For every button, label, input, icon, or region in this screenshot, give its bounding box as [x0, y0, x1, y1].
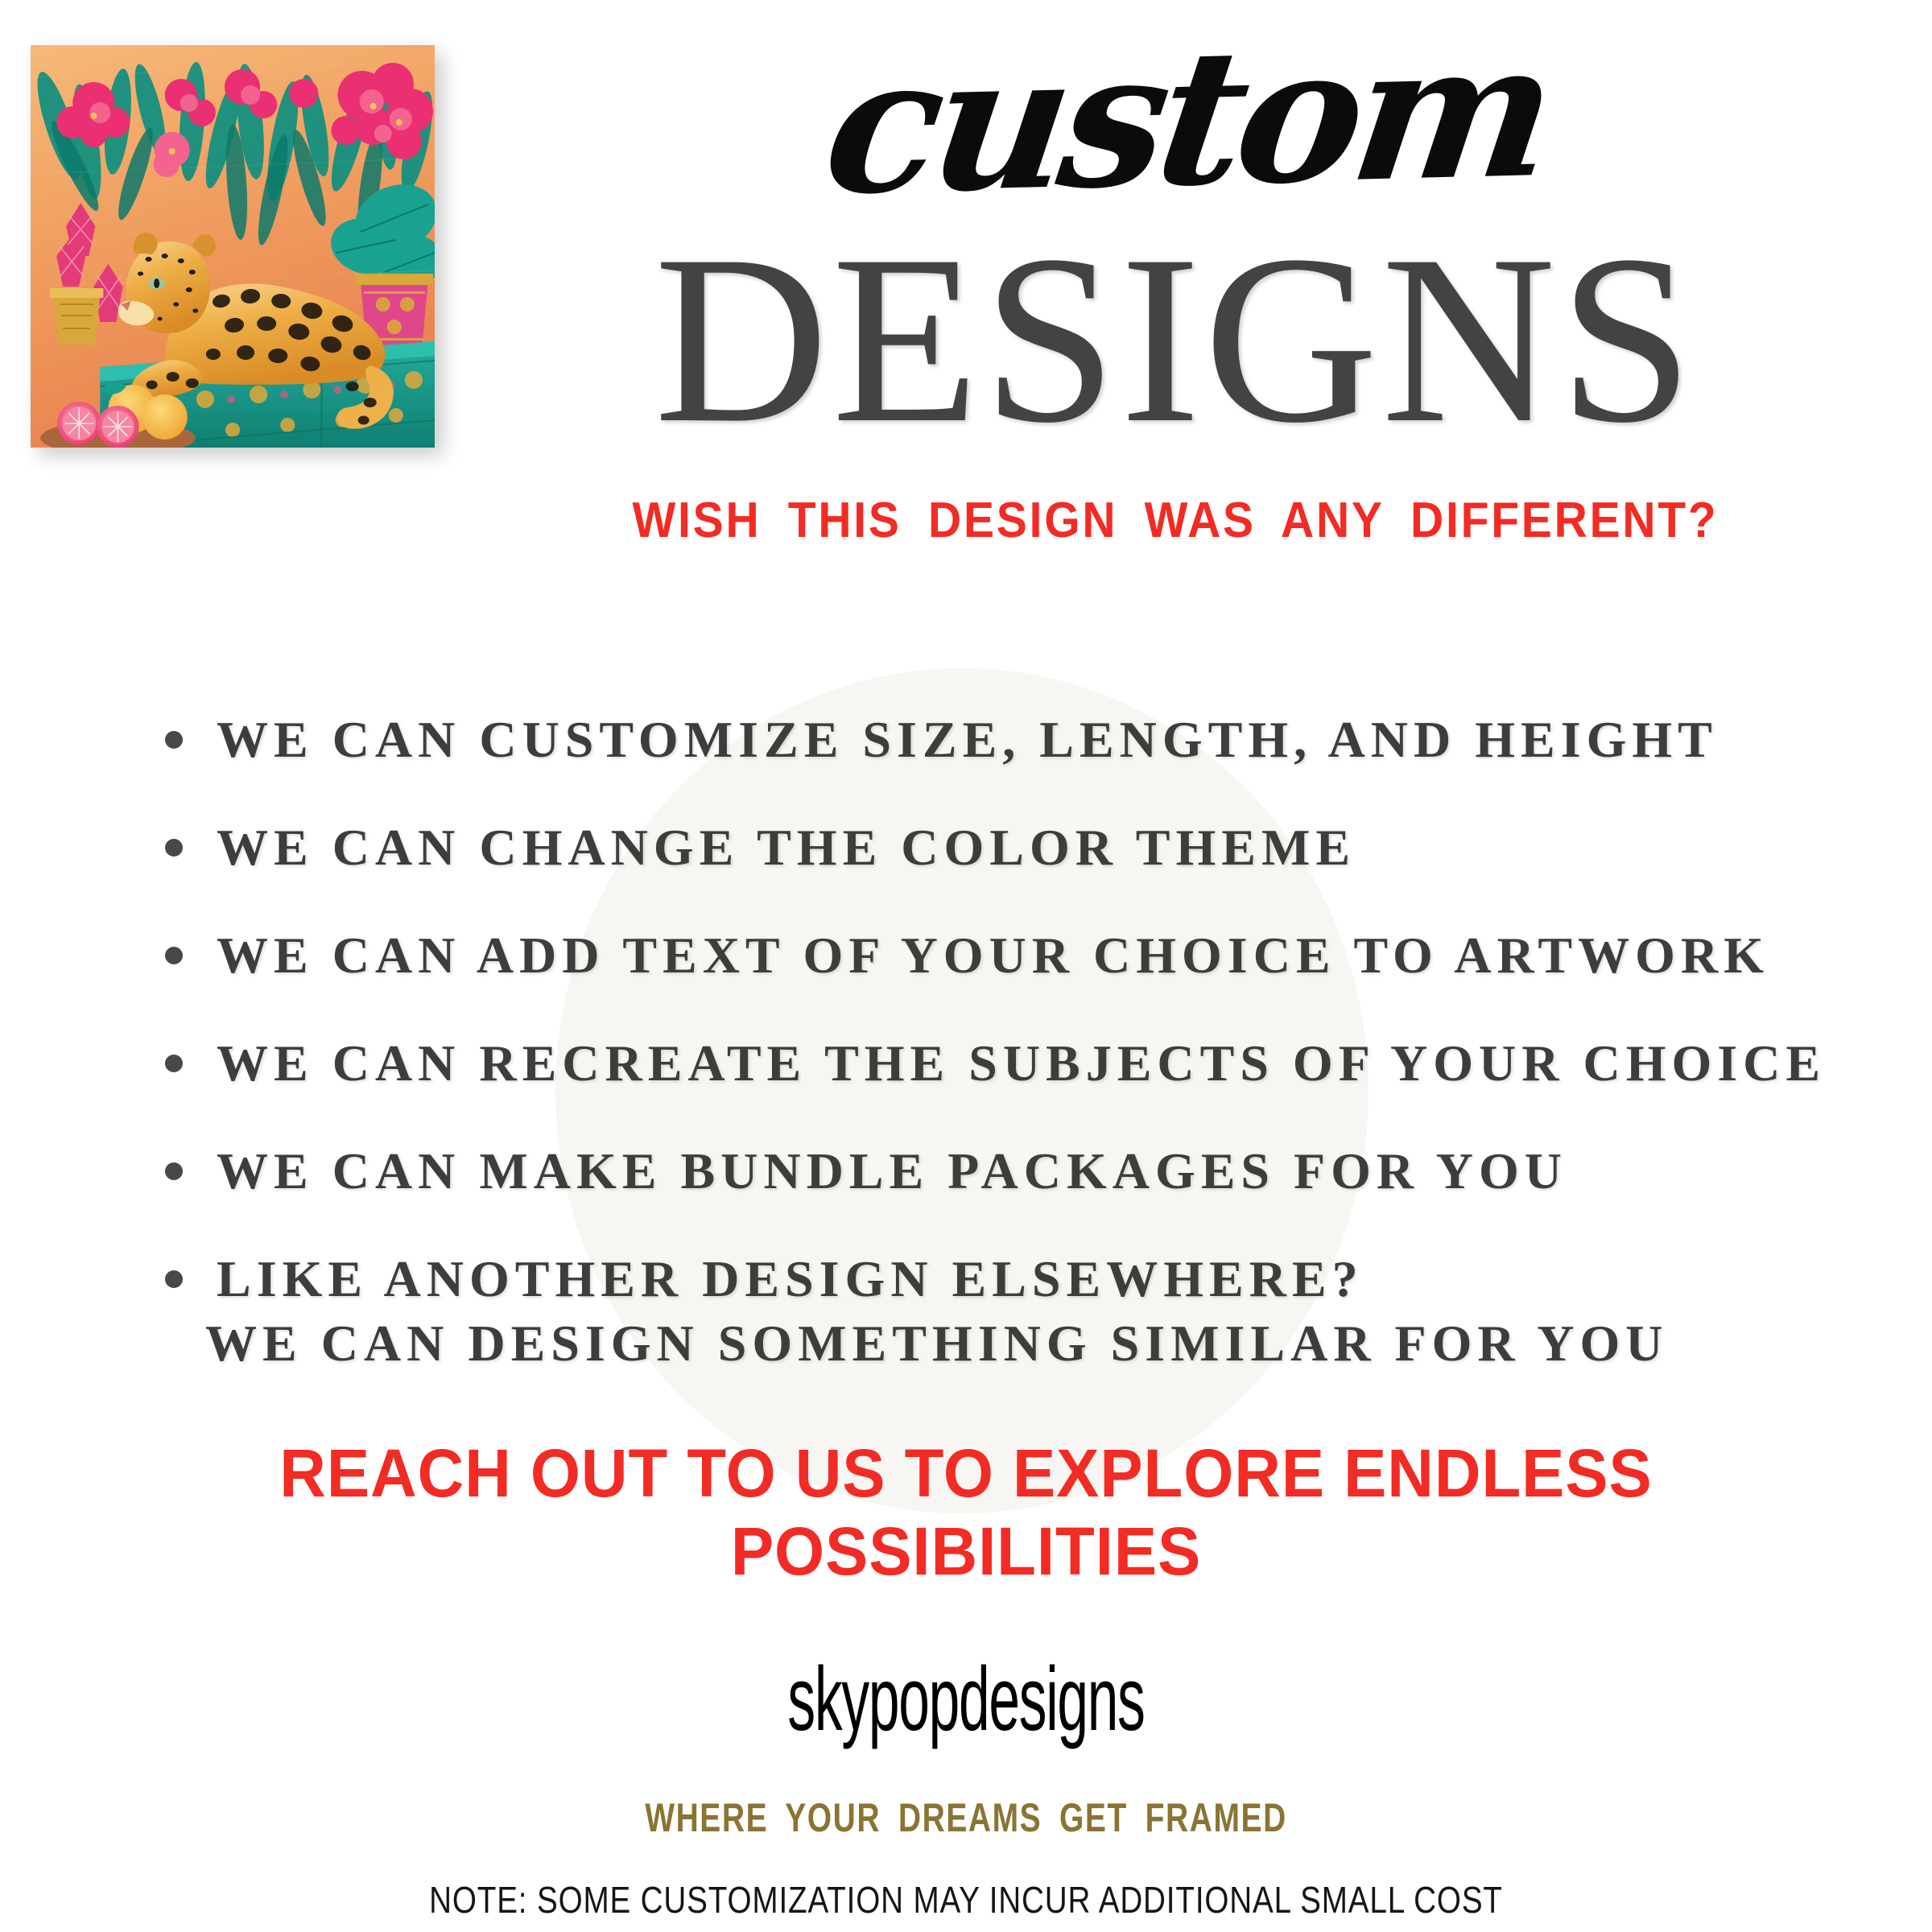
page-subtitle: WISH THIS DESIGN WAS ANY DIFFERENT? — [509, 492, 1842, 549]
artwork-thumbnail[interactable] — [31, 45, 435, 448]
list-item: WE CAN RECREATE THE SUBJECTS OF YOUR CHO… — [157, 1032, 1864, 1095]
brand-tagline: WHERE YOUR DREAMS GET FRAMED — [213, 1794, 1719, 1841]
list-item: WE CAN MAKE BUNDLE PACKAGES FOR YOU — [157, 1140, 1864, 1203]
bullet-dot-icon — [165, 1055, 183, 1072]
bullet-dot-icon — [165, 947, 183, 964]
page-title-script: custom — [448, 14, 1926, 221]
headline-block: custom DESIGNS WISH THIS DESIGN WAS ANY … — [451, 32, 1900, 549]
footer-block: skypopdesigns WHERE YOUR DREAMS GET FRAM… — [0, 1654, 1932, 1922]
list-item: WE CAN CHANGE THE COLOR THEME — [157, 816, 1864, 879]
list-item-label: WE CAN CHANGE THE COLOR THEME — [217, 820, 1356, 874]
list-item-label: WE CAN ADD TEXT OF YOUR CHOICE TO ARTWOR… — [217, 928, 1769, 982]
footer-note: NOTE: SOME CUSTOMIZATION MAY INCUR ADDIT… — [155, 1878, 1777, 1922]
list-item-label: WE CAN MAKE BUNDLE PACKAGES FOR YOU — [217, 1144, 1567, 1198]
list-item-label: LIKE ANOTHER DESIGN ELSEWHERE? — [217, 1252, 1364, 1306]
tropical-leopard-illustration — [31, 45, 435, 448]
bullet-dot-icon — [165, 839, 183, 857]
page-title-main: DESIGNS — [451, 218, 1900, 460]
bullet-dot-icon — [165, 1162, 183, 1180]
list-item: LIKE ANOTHER DESIGN ELSEWHERE? — [157, 1248, 1864, 1311]
call-to-action-text: REACH OUT TO US TO EXPLORE ENDLESS POSSI… — [48, 1435, 1884, 1591]
list-item-continuation: WE CAN DESIGN SOMETHING SIMILAR FOR YOU — [205, 1314, 1668, 1373]
list-item-label: WE CAN RECREATE THE SUBJECTS OF YOUR CHO… — [217, 1036, 1826, 1090]
promo-graphic-page: custom DESIGNS WISH THIS DESIGN WAS ANY … — [0, 0, 1932, 1932]
brand-logo-text: skypopdesigns — [367, 1654, 1565, 1744]
bullet-dot-icon — [165, 731, 183, 749]
bullet-dot-icon — [165, 1270, 183, 1288]
list-item-label: WE CAN CUSTOMIZE SIZE, LENGTH, AND HEIGH… — [217, 712, 1718, 766]
list-item: WE CAN CUSTOMIZE SIZE, LENGTH, AND HEIGH… — [157, 708, 1864, 771]
list-item: WE CAN ADD TEXT OF YOUR CHOICE TO ARTWOR… — [157, 924, 1864, 987]
feature-list: WE CAN CUSTOMIZE SIZE, LENGTH, AND HEIGH… — [157, 708, 1864, 1356]
